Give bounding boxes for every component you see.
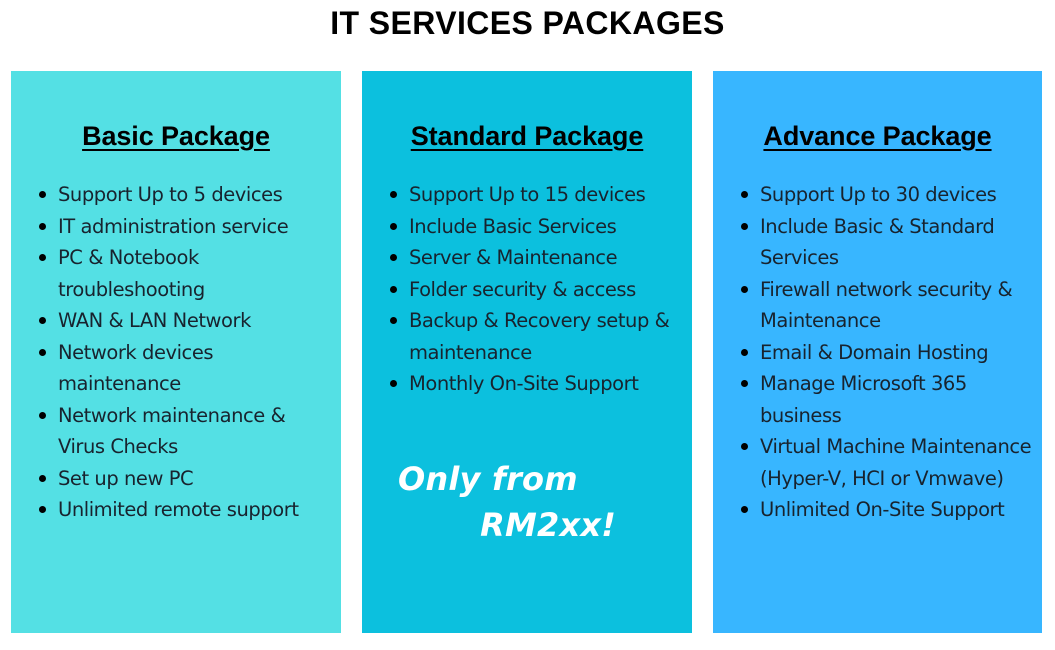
feature-label: WAN & LAN Network: [58, 309, 251, 332]
feature-label: Server & Maintenance: [409, 246, 617, 269]
feature-item-standard: Backup & Recovery setup & maintenance: [362, 305, 692, 368]
bullet-icon: [390, 286, 397, 293]
feature-label: Unlimited remote support: [58, 498, 299, 521]
feature-item-basic: IT administration service: [11, 211, 341, 243]
feature-item-standard: Server & Maintenance: [362, 242, 692, 274]
feature-item-advance: Support Up to 30 devices: [713, 179, 1042, 211]
bullet-icon: [390, 191, 397, 198]
package-card-basic[interactable]: Basic Package Support Up to 5 devicesIT …: [11, 71, 341, 633]
feature-item-advance: Firewall network security & Maintenance: [713, 274, 1042, 337]
feature-item-basic: PC & Notebook troubleshooting: [11, 242, 341, 305]
feature-list-basic: Support Up to 5 devicesIT administration…: [11, 179, 341, 526]
package-heading-advance: Advance Package: [713, 120, 1042, 152]
bullet-icon: [741, 191, 748, 198]
feature-label: Monthly On-Site Support: [409, 372, 638, 395]
feature-item-standard: Include Basic Services: [362, 211, 692, 243]
feature-label: Support Up to 5 devices: [58, 183, 282, 206]
bullet-icon: [39, 412, 46, 419]
package-heading-standard: Standard Package: [362, 120, 692, 152]
feature-list-advance: Support Up to 30 devicesInclude Basic & …: [713, 179, 1042, 526]
feature-item-basic: WAN & LAN Network: [11, 305, 341, 337]
feature-item-advance: Email & Domain Hosting: [713, 337, 1042, 369]
feature-item-basic: Unlimited remote support: [11, 494, 341, 526]
feature-label: Set up new PC: [58, 467, 193, 490]
bullet-icon: [741, 443, 748, 450]
packages-container: Basic Package Support Up to 5 devicesIT …: [11, 71, 1042, 633]
feature-item-advance: Manage Microsoft 365 business: [713, 368, 1042, 431]
feature-label: Firewall network security & Maintenance: [760, 278, 1012, 333]
feature-item-advance: Include Basic & Standard Services: [713, 211, 1042, 274]
feature-label: Backup & Recovery setup & maintenance: [409, 309, 669, 364]
feature-label: Email & Domain Hosting: [760, 341, 988, 364]
feature-item-basic: Network maintenance & Virus Checks: [11, 400, 341, 463]
feature-label: Unlimited On-Site Support: [760, 498, 1004, 521]
feature-label: Network maintenance & Virus Checks: [58, 404, 285, 459]
bullet-icon: [390, 223, 397, 230]
feature-label: Virtual Machine Maintenance (Hyper-V, HC…: [760, 435, 1031, 490]
package-heading-basic: Basic Package: [11, 120, 341, 152]
bullet-icon: [741, 223, 748, 230]
bullet-icon: [741, 349, 748, 356]
bullet-icon: [39, 506, 46, 513]
page-title: IT SERVICES PACKAGES: [0, 4, 1055, 42]
feature-list-standard: Support Up to 15 devicesInclude Basic Se…: [362, 179, 692, 400]
feature-item-advance: Unlimited On-Site Support: [713, 494, 1042, 526]
feature-label: Include Basic & Standard Services: [760, 215, 994, 270]
bullet-icon: [39, 223, 46, 230]
price-callout: Only from RM2xx!: [362, 456, 692, 548]
feature-item-standard: Support Up to 15 devices: [362, 179, 692, 211]
bullet-icon: [390, 317, 397, 324]
feature-label: Include Basic Services: [409, 215, 616, 238]
feature-label: Network devices maintenance: [58, 341, 213, 396]
bullet-icon: [39, 191, 46, 198]
feature-item-advance: Virtual Machine Maintenance (Hyper-V, HC…: [713, 431, 1042, 494]
feature-item-standard: Monthly On-Site Support: [362, 368, 692, 400]
bullet-icon: [741, 380, 748, 387]
feature-item-standard: Folder security & access: [362, 274, 692, 306]
feature-label: IT administration service: [58, 215, 288, 238]
bullet-icon: [39, 317, 46, 324]
bullet-icon: [39, 475, 46, 482]
bullet-icon: [741, 286, 748, 293]
bullet-icon: [39, 254, 46, 261]
feature-label: Support Up to 15 devices: [409, 183, 645, 206]
bullet-icon: [39, 349, 46, 356]
feature-item-basic: Set up new PC: [11, 463, 341, 495]
package-card-advance[interactable]: Advance Package Support Up to 30 devices…: [713, 71, 1042, 633]
price-line-1: Only from: [398, 456, 672, 502]
price-line-2: RM2xx!: [398, 502, 672, 548]
feature-label: PC & Notebook troubleshooting: [58, 246, 205, 301]
feature-label: Support Up to 30 devices: [760, 183, 996, 206]
feature-item-basic: Network devices maintenance: [11, 337, 341, 400]
bullet-icon: [390, 380, 397, 387]
package-card-standard[interactable]: Standard Package Support Up to 15 device…: [362, 71, 692, 633]
bullet-icon: [741, 506, 748, 513]
feature-item-basic: Support Up to 5 devices: [11, 179, 341, 211]
bullet-icon: [390, 254, 397, 261]
feature-label: Folder security & access: [409, 278, 636, 301]
feature-label: Manage Microsoft 365 business: [760, 372, 967, 427]
